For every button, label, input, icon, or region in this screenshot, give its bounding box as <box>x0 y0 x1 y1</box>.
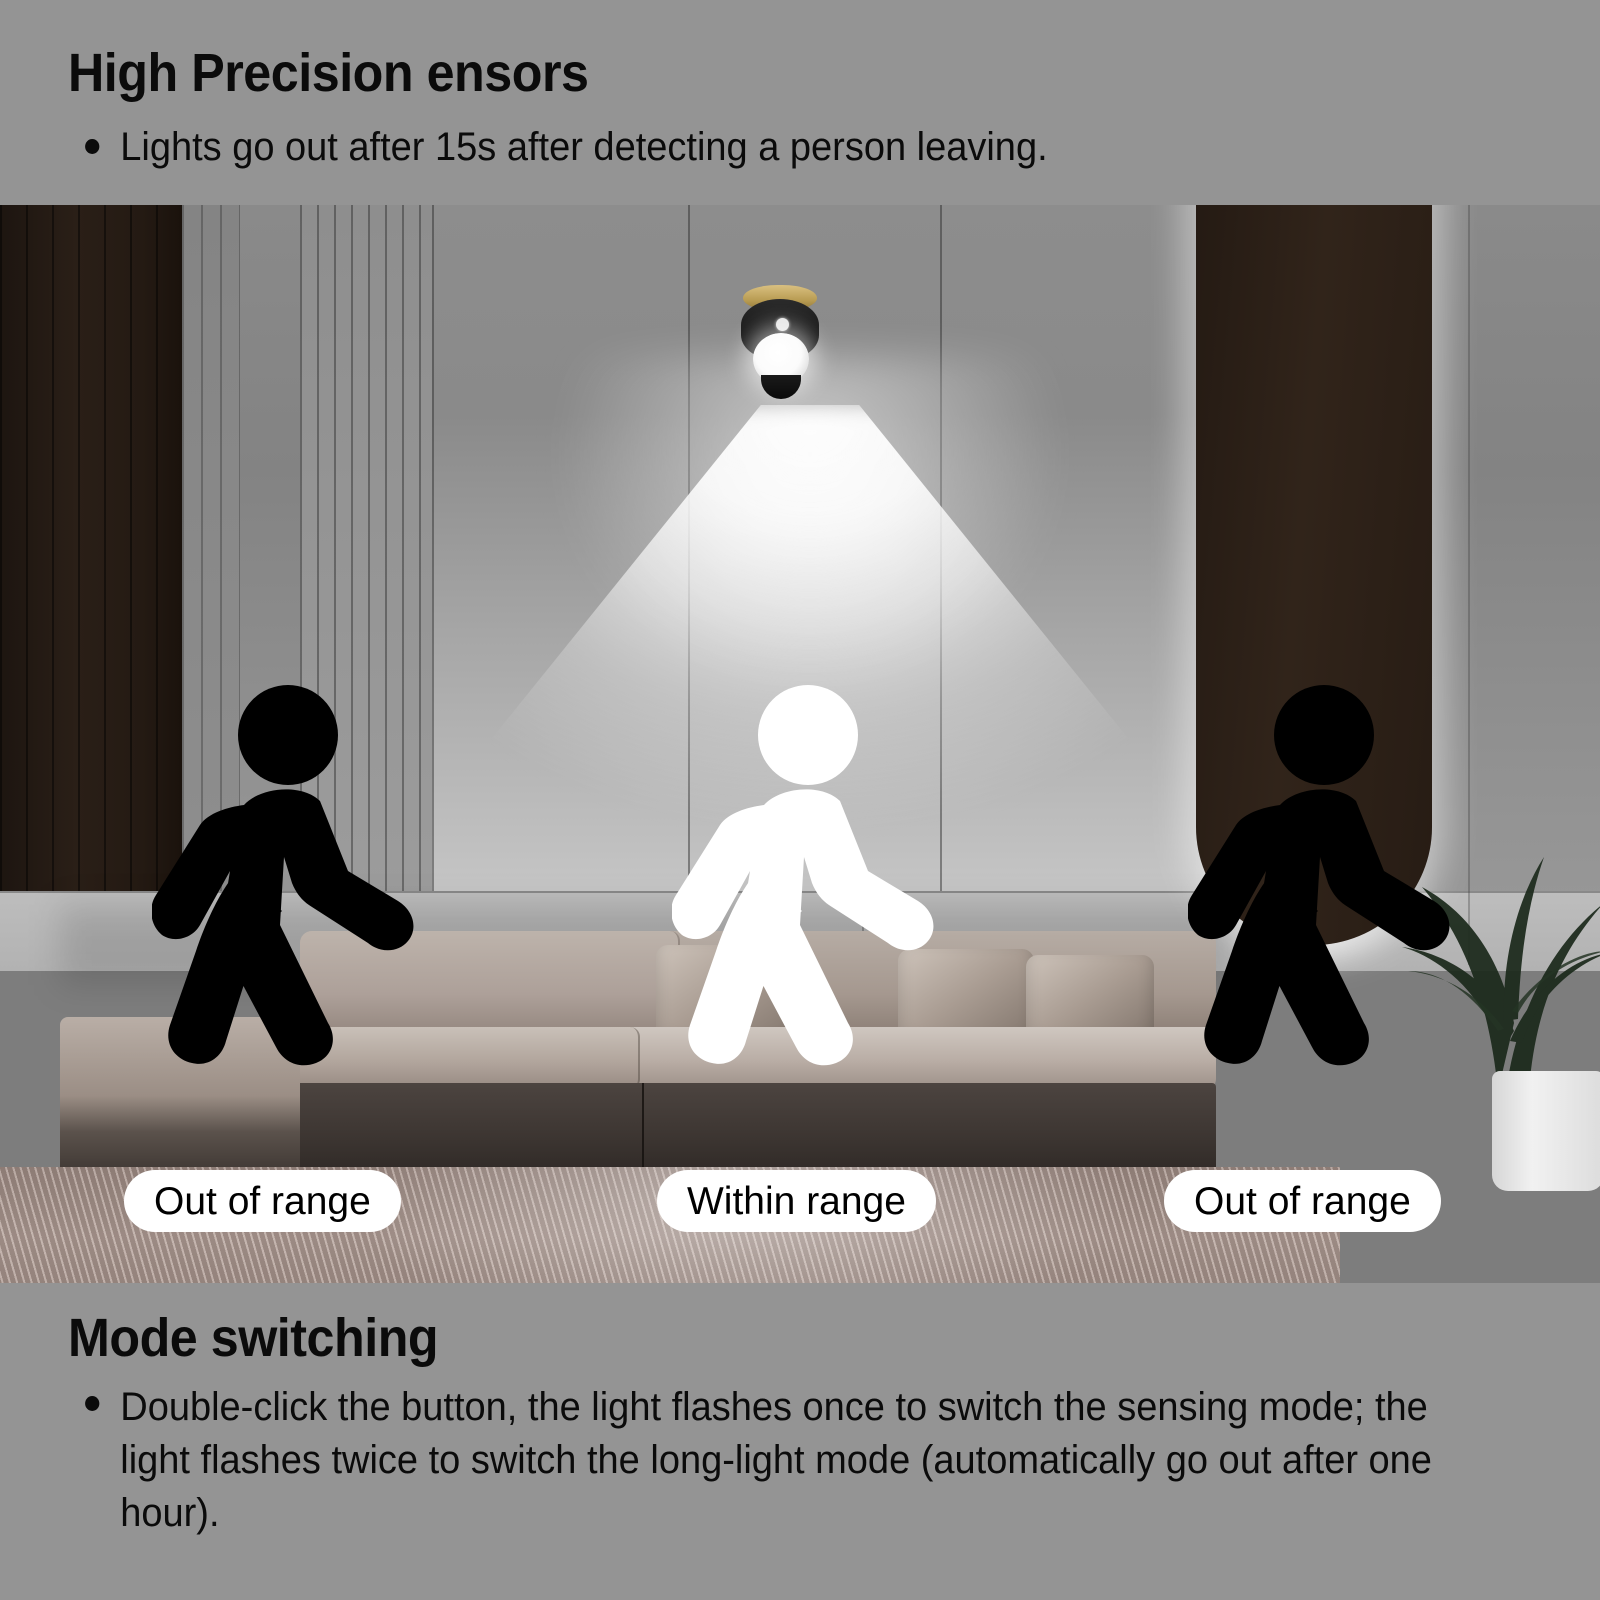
wall-sensor-light-icon[interactable] <box>735 285 827 405</box>
wall-seam <box>432 205 434 905</box>
walking-person-icon <box>1188 675 1458 1085</box>
footer-bullet-item: Double-click the button, the light flash… <box>68 1381 1523 1539</box>
status-badge-center: Within range <box>657 1170 936 1232</box>
white-planter <box>1492 1071 1600 1191</box>
header-section: High Precision ensors Lights go out afte… <box>0 0 1600 205</box>
status-badge-label: Within range <box>687 1182 906 1221</box>
lamp-foot <box>761 375 801 399</box>
sofa-base-seam <box>642 1083 644 1179</box>
footer-title: Mode switching <box>68 1311 1493 1365</box>
header-bullet-text: Lights go out after 15s after detecting … <box>120 124 1047 171</box>
footer-bullet-text: Double-click the button, the light flash… <box>120 1381 1474 1539</box>
status-badge-right: Out of range <box>1164 1170 1441 1232</box>
motion-sensor-dot-icon <box>776 318 789 331</box>
footer-section: Mode switching Double-click the button, … <box>0 1283 1600 1600</box>
infographic-page: High Precision ensors Lights go out afte… <box>0 0 1600 1600</box>
status-badge-label: Out of range <box>1194 1182 1411 1221</box>
status-badge-left: Out of range <box>124 1170 401 1232</box>
header-bullet-item: Lights go out after 15s after detecting … <box>68 124 1523 171</box>
room-scene-image: Out of range Within range Out of range <box>0 205 1600 1283</box>
page-title: High Precision ensors <box>68 46 1493 100</box>
walking-person-icon <box>672 675 942 1085</box>
walking-person-icon <box>152 675 422 1085</box>
bullet-dot-icon <box>85 139 99 154</box>
status-badge-label: Out of range <box>154 1182 371 1221</box>
bullet-dot-icon <box>85 1396 99 1411</box>
